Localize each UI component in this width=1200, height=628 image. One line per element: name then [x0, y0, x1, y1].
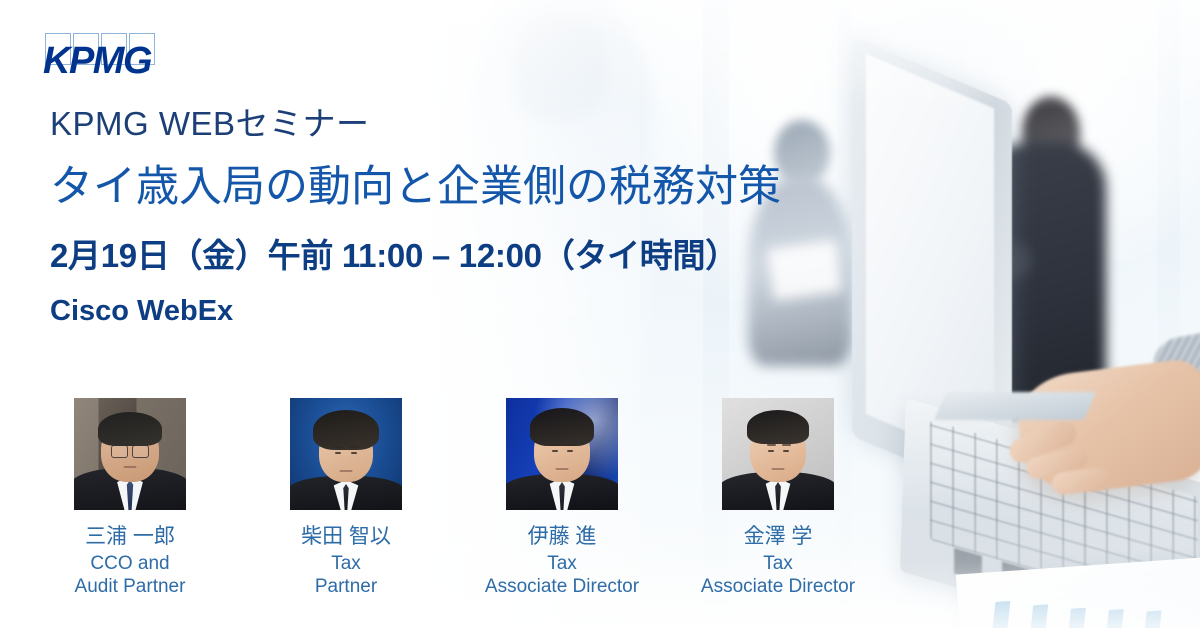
typing-hand	[1013, 357, 1200, 499]
lens	[111, 445, 128, 458]
finger	[1006, 418, 1080, 466]
mouth	[124, 466, 137, 468]
speaker-name: 柴田 智以	[301, 524, 391, 550]
speaker-name: 金澤 学	[744, 524, 813, 550]
hair	[747, 410, 809, 444]
seminar-datetime: 2月19日（金）午前 11:00 – 12:00（タイ時間）	[50, 238, 850, 274]
lens	[132, 445, 149, 458]
laptop-keyboard	[930, 420, 1198, 617]
speaker-title: Tax Associate Director	[485, 552, 639, 598]
background-person-body	[988, 142, 1106, 414]
printed-report	[956, 558, 1200, 628]
background-person-arm	[959, 231, 1035, 283]
mouth	[772, 468, 785, 470]
background-person-body	[866, 196, 972, 392]
speaker-title: CCO and Audit Partner	[75, 552, 186, 598]
hair	[530, 408, 594, 446]
speaker-title-line: Associate Director	[701, 575, 855, 598]
seminar-banner: KPMG KPMG WEBセミナー タイ歳入局の動向と企業側の税務対策 2月19…	[0, 0, 1200, 628]
background-document-sheet	[878, 245, 978, 295]
eyebrow	[767, 444, 776, 446]
report-chart-bar	[1106, 609, 1124, 628]
finger	[1024, 445, 1089, 481]
speaker-title: Tax Partner	[315, 552, 377, 598]
eyebrow	[334, 446, 343, 448]
mouth	[556, 468, 569, 470]
kpmg-logo: KPMG	[44, 33, 162, 85]
window-mullion	[1158, 0, 1180, 628]
speaker-name: 伊藤 進	[528, 524, 597, 550]
second-laptop	[934, 392, 1096, 420]
speaker-list: 三浦 一郎 CCO and Audit Partner 柴田 智以	[22, 398, 902, 599]
logo-wordmark: KPMG	[43, 42, 151, 80]
laptop-base	[900, 398, 1200, 628]
speaker-title-line: Associate Director	[485, 575, 639, 598]
seminar-platform: Cisco WebEx	[50, 296, 850, 328]
mouth	[340, 470, 353, 472]
speaker-photo	[74, 398, 186, 510]
speaker-card: 柴田 智以 Tax Partner	[238, 398, 454, 599]
background-person-head	[894, 140, 944, 202]
speaker-photo	[290, 398, 402, 510]
report-chart-bar	[1145, 610, 1162, 628]
speaker-card: 金澤 学 Tax Associate Director	[670, 398, 886, 599]
report-chart-bar	[1068, 608, 1086, 628]
laptop-ports	[944, 545, 1194, 628]
report-chart-bar	[1030, 604, 1049, 628]
eyebrow	[782, 444, 791, 446]
speaker-title-line: CCO and	[75, 552, 186, 575]
eyebrow	[566, 444, 575, 446]
speaker-title-line: Tax	[485, 552, 639, 575]
speaker-title-line: Tax	[315, 552, 377, 575]
speaker-card: 伊藤 進 Tax Associate Director	[454, 398, 670, 599]
hair	[313, 410, 379, 450]
photo-top-haze	[330, 0, 1200, 110]
seminar-text-block: KPMG WEBセミナー タイ歳入局の動向と企業側の税務対策 2月19日（金）午…	[50, 106, 850, 328]
hair	[98, 412, 162, 446]
report-chart-bar	[991, 601, 1010, 628]
eyebrow	[551, 444, 560, 446]
window-glow	[930, 0, 1200, 260]
eyebrow	[350, 446, 359, 448]
speaker-name: 三浦 一郎	[85, 524, 175, 550]
speaker-photo	[506, 398, 618, 510]
speaker-photo	[722, 398, 834, 510]
shirt-sleeve	[1148, 323, 1200, 460]
speaker-title-line: Tax	[701, 552, 855, 575]
seminar-headline: タイ歳入局の動向と企業側の税務対策	[50, 164, 850, 211]
finger	[1051, 466, 1111, 496]
speaker-title: Tax Associate Director	[701, 552, 855, 598]
speaker-title-line: Partner	[315, 575, 377, 598]
speaker-title-line: Audit Partner	[75, 575, 186, 598]
background-person-head	[1022, 96, 1080, 170]
speaker-card: 三浦 一郎 CCO and Audit Partner	[22, 398, 238, 599]
seminar-eyebrow: KPMG WEBセミナー	[50, 106, 850, 142]
desk-surface	[1007, 508, 1200, 592]
eyeglasses	[111, 445, 149, 458]
